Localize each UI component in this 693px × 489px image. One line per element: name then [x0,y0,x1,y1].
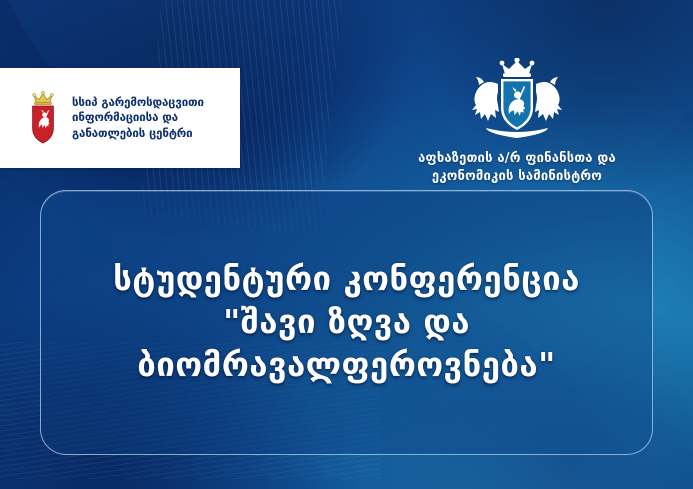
georgian-coat-of-arms-icon [30,90,64,146]
conference-title-panel: სტუდენტური კონფერენცია "შავი ზღვა და ბიო… [40,190,653,455]
ministry-name-text: აფხაზეთის ა/რ ფინანსთა და ეკონომიკის სამ… [418,150,616,185]
environmental-center-logo-box: სსიპ გარემოსდაცვითი ინფორმაციისა და განა… [0,68,240,168]
poster-canvas: სსიპ გარემოსდაცვითი ინფორმაციისა და განა… [0,0,693,489]
environmental-center-logo-text: სსიპ გარემოსდაცვითი ინფორმაციისა და განა… [72,95,204,141]
conference-title: სტუდენტური კონფერენცია "შავი ზღვა და ბიო… [99,258,594,387]
ministry-block: აფხაზეთის ა/რ ფინანსთა და ეკონომიკის სამ… [367,58,667,185]
georgian-coat-of-arms-full-icon [458,58,576,142]
